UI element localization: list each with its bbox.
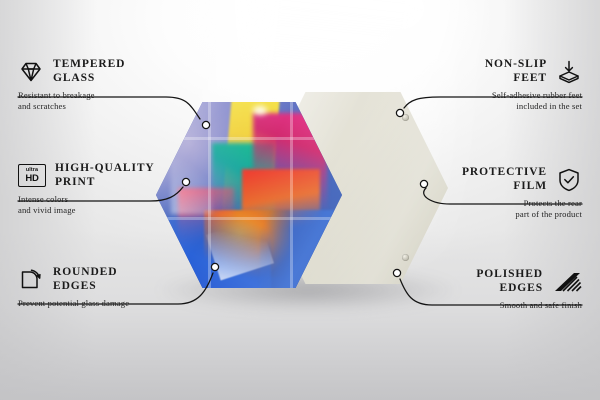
feature-desc-line2: and scratches xyxy=(18,101,66,111)
feature-title-line2: GLASS xyxy=(53,72,95,84)
feature-title-line1: PROTECTIVE xyxy=(462,166,547,178)
shield-check-icon xyxy=(556,167,582,193)
feature-title-line2: FEET xyxy=(513,72,547,84)
feature-title-line2: EDGES xyxy=(500,282,544,294)
feature-title-line1: NON-SLIP xyxy=(485,58,547,70)
product-infographic: TEMPERED GLASS Resistant to breakage and… xyxy=(0,0,600,400)
feature-title-line2: FILM xyxy=(513,180,547,192)
ultra-hd-icon: ultra HD xyxy=(18,164,46,187)
feature-desc-line1: Intense colors xyxy=(18,194,68,204)
ultra-hd-icon-main-text: HD xyxy=(25,174,38,184)
press-down-foot-icon xyxy=(556,59,582,85)
feature-title-line1: ROUNDED xyxy=(53,266,117,278)
feature-desc-line2: and vivid image xyxy=(18,205,76,215)
feature-polished-edges: POLISHED EDGES xyxy=(392,268,582,311)
feature-desc-line1: Smooth and safe finish xyxy=(500,300,582,310)
feature-high-quality-print: ultra HD HIGH-QUALITY PRINT Intense colo… xyxy=(18,162,193,216)
feature-desc-line1: Self-adhesive rubber feet xyxy=(492,90,582,100)
feature-title-line1: TEMPERED xyxy=(53,58,125,70)
feature-title-line1: POLISHED xyxy=(476,268,543,280)
feature-title-line2: EDGES xyxy=(53,280,97,292)
feature-desc-line1: Resistant to breakage xyxy=(18,90,95,100)
feature-title-line2: PRINT xyxy=(55,176,95,188)
feature-desc-line1: Prevent potential glass damage xyxy=(18,298,129,308)
feature-desc-line2: part of the product xyxy=(515,209,582,219)
feature-protective-film: PROTECTIVE FILM Protects the rear part o… xyxy=(392,166,582,220)
feature-tempered-glass: TEMPERED GLASS Resistant to breakage and… xyxy=(18,58,193,112)
connector-dot-tempered-glass xyxy=(202,121,209,128)
feature-title-line1: HIGH-QUALITY xyxy=(55,162,155,174)
feature-desc-line1: Protects the rear xyxy=(524,198,582,208)
connector-dot-rounded-edges xyxy=(211,263,218,270)
feature-non-slip-feet: NON-SLIP FEET Self-adhesive rubber feet … xyxy=(392,58,582,112)
feature-rounded-edges: ROUNDED EDGES Prevent potential glass da… xyxy=(18,266,208,309)
rounded-corner-icon xyxy=(18,267,44,293)
diagonal-lines-icon xyxy=(552,272,582,292)
feature-desc-line2: included in the set xyxy=(516,101,582,111)
diamond-icon xyxy=(18,59,44,85)
